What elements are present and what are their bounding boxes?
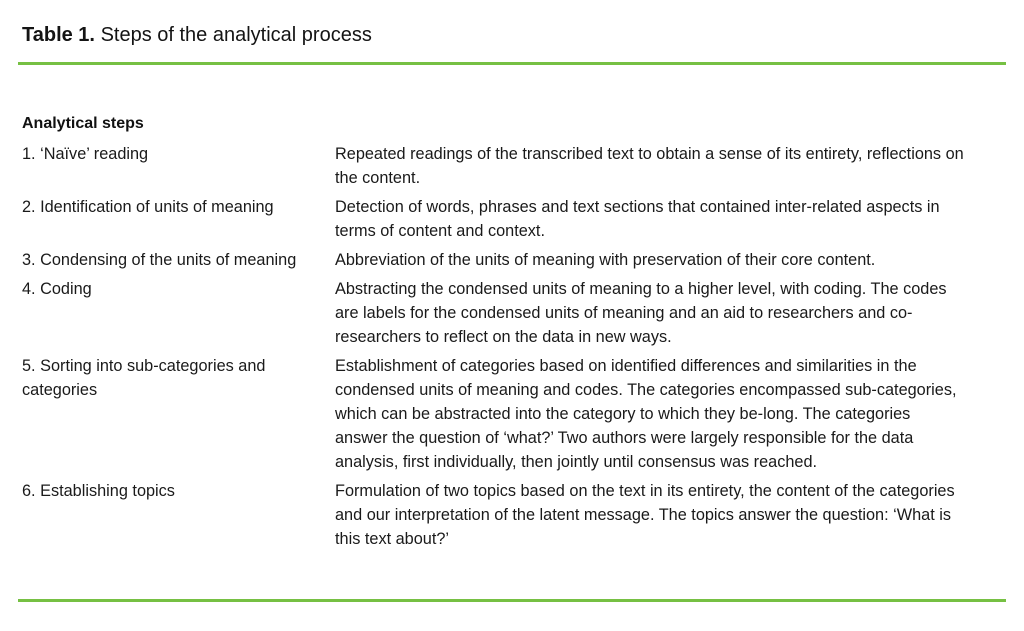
column-header-cell-steps: Analytical steps bbox=[0, 112, 335, 136]
table-row: 3. Condensing of the units of meaning Ab… bbox=[0, 248, 1024, 272]
step-description: Abbreviation of the units of meaning wit… bbox=[335, 248, 965, 272]
table-cell-description: Establishment of categories based on ide… bbox=[335, 354, 1024, 474]
table-cell-step: 1. ‘Naïve’ reading bbox=[0, 142, 335, 166]
table-body: Analytical steps 1. ‘Naïve’ reading Repe… bbox=[0, 112, 1024, 551]
step-label: 1. ‘Naïve’ reading bbox=[22, 142, 325, 166]
table-figure: Table 1. Steps of the analytical process… bbox=[0, 0, 1024, 631]
table-header-row: Analytical steps bbox=[0, 112, 1024, 136]
table-row: 6. Establishing topics Formulation of tw… bbox=[0, 479, 1024, 551]
table-cell-step: 6. Establishing topics bbox=[0, 479, 335, 503]
table-caption-text: Steps of the analytical process bbox=[101, 24, 372, 46]
step-description: Abstracting the condensed units of meani… bbox=[335, 277, 965, 349]
table-row: 4. Coding Abstracting the condensed unit… bbox=[0, 277, 1024, 349]
table-cell-step: 3. Condensing of the units of meaning bbox=[0, 248, 335, 272]
table-row: 1. ‘Naïve’ reading Repeated readings of … bbox=[0, 142, 1024, 190]
table-top-rule bbox=[18, 62, 1006, 65]
table-row: 5. Sorting into sub-categories and categ… bbox=[0, 354, 1024, 474]
table-cell-step: 2. Identification of units of meaning bbox=[0, 195, 335, 219]
step-description: Establishment of categories based on ide… bbox=[335, 354, 965, 474]
table-cell-description: Repeated readings of the transcribed tex… bbox=[335, 142, 1024, 190]
table-cell-description: Formulation of two topics based on the t… bbox=[335, 479, 1024, 551]
step-description: Detection of words, phrases and text sec… bbox=[335, 195, 965, 243]
table-cell-description: Detection of words, phrases and text sec… bbox=[335, 195, 1024, 243]
column-header-steps: Analytical steps bbox=[22, 112, 325, 136]
step-label: 6. Establishing topics bbox=[22, 479, 325, 503]
table-cell-description: Abstracting the condensed units of meani… bbox=[335, 277, 1024, 349]
step-label: 5. Sorting into sub-categories and categ… bbox=[22, 354, 325, 402]
table-cell-step: 5. Sorting into sub-categories and categ… bbox=[0, 354, 335, 402]
step-label: 2. Identification of units of meaning bbox=[22, 195, 325, 219]
step-label: 4. Coding bbox=[22, 277, 325, 301]
table-caption: Table 1. Steps of the analytical process bbox=[22, 22, 982, 48]
step-label: 3. Condensing of the units of meaning bbox=[22, 248, 325, 272]
table-cell-step: 4. Coding bbox=[0, 277, 335, 301]
table-bottom-rule bbox=[18, 599, 1006, 602]
step-description: Formulation of two topics based on the t… bbox=[335, 479, 965, 551]
table-cell-description: Abbreviation of the units of meaning wit… bbox=[335, 248, 1024, 272]
table-caption-label: Table 1. bbox=[22, 24, 95, 46]
step-description: Repeated readings of the transcribed tex… bbox=[335, 142, 965, 190]
table-row: 2. Identification of units of meaning De… bbox=[0, 195, 1024, 243]
